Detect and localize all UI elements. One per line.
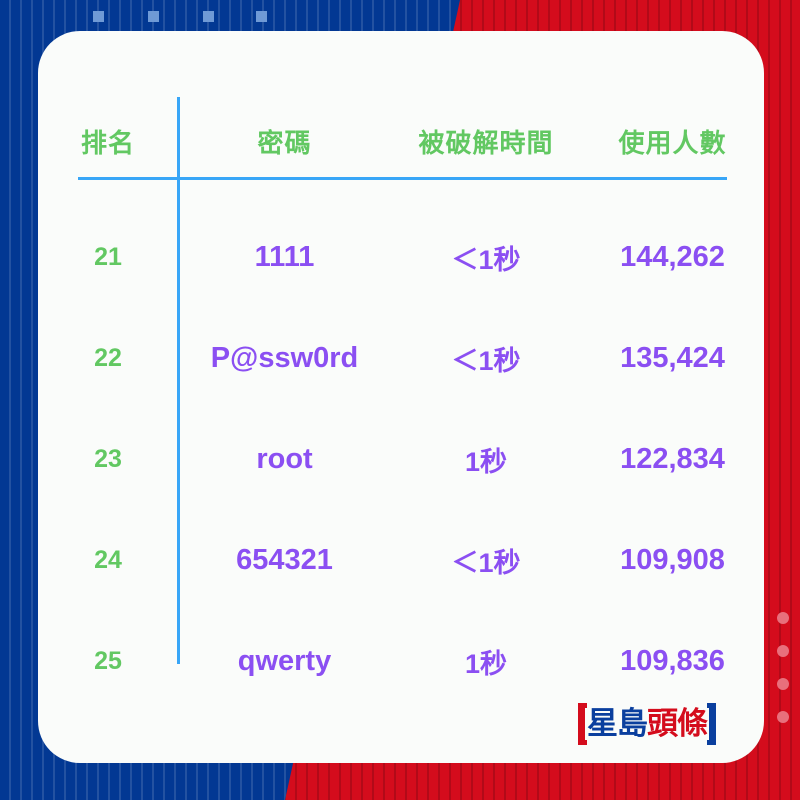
logo-right-bracket-icon	[707, 703, 716, 745]
right-dot	[777, 645, 789, 657]
table-row: 24 654321 ＜1秒 109,908	[38, 510, 764, 611]
table-body: 21 1111 ＜1秒 144,262 22 P@ssw0rd ＜1秒 135,…	[38, 207, 764, 712]
cell-user-count: 135,424	[581, 342, 764, 375]
cell-user-count: 144,262	[581, 241, 764, 274]
content-card: 排名 密碼 被破解時間 使用人數 21 1111 ＜1秒 144,262 22 …	[38, 31, 764, 763]
logo-text-red: 頭條	[647, 703, 707, 745]
cell-rank: 22	[38, 344, 178, 373]
table-row: 21 1111 ＜1秒 144,262	[38, 207, 764, 308]
cell-crack-time: ＜1秒	[391, 541, 581, 580]
cell-crack-time: ＜1秒	[391, 238, 581, 277]
logo-text-blue: 星島	[587, 703, 647, 745]
cell-password: root	[178, 443, 391, 476]
cell-crack-time: 1秒	[391, 642, 581, 681]
top-dot	[256, 11, 267, 22]
cell-rank: 23	[38, 445, 178, 474]
column-header-password: 密碼	[178, 123, 391, 160]
sing-tao-headline-logo: 星島 頭條	[578, 700, 730, 747]
cell-rank: 24	[38, 546, 178, 575]
column-header-user-count: 使用人數	[581, 123, 764, 160]
cell-crack-time: 1秒	[391, 440, 581, 479]
header-horizontal-divider	[78, 177, 727, 180]
top-dot	[93, 11, 104, 22]
cell-user-count: 109,908	[581, 544, 764, 577]
logo-left-bracket-icon	[578, 703, 587, 745]
cell-user-count: 122,834	[581, 443, 764, 476]
table-header-row: 排名 密碼 被破解時間 使用人數	[38, 111, 764, 171]
cell-rank: 21	[38, 243, 178, 272]
right-dot	[777, 612, 789, 624]
table-row: 22 P@ssw0rd ＜1秒 135,424	[38, 308, 764, 409]
cell-password: 1111	[178, 241, 391, 274]
poster-canvas: 排名 密碼 被破解時間 使用人數 21 1111 ＜1秒 144,262 22 …	[0, 0, 800, 800]
table-row: 25 qwerty 1秒 109,836	[38, 611, 764, 712]
password-ranking-table: 排名 密碼 被破解時間 使用人數 21 1111 ＜1秒 144,262 22 …	[38, 31, 764, 763]
cell-password: 654321	[178, 544, 391, 577]
cell-user-count: 109,836	[581, 645, 764, 678]
cell-crack-time: ＜1秒	[391, 339, 581, 378]
table-row: 23 root 1秒 122,834	[38, 409, 764, 510]
column-header-crack-time: 被破解時間	[391, 123, 581, 160]
cell-password: P@ssw0rd	[178, 342, 391, 375]
top-dot	[203, 11, 214, 22]
right-dot	[777, 711, 789, 723]
column-header-rank: 排名	[38, 123, 178, 160]
top-dot	[148, 11, 159, 22]
cell-password: qwerty	[178, 645, 391, 678]
cell-rank: 25	[38, 647, 178, 676]
right-dot	[777, 678, 789, 690]
